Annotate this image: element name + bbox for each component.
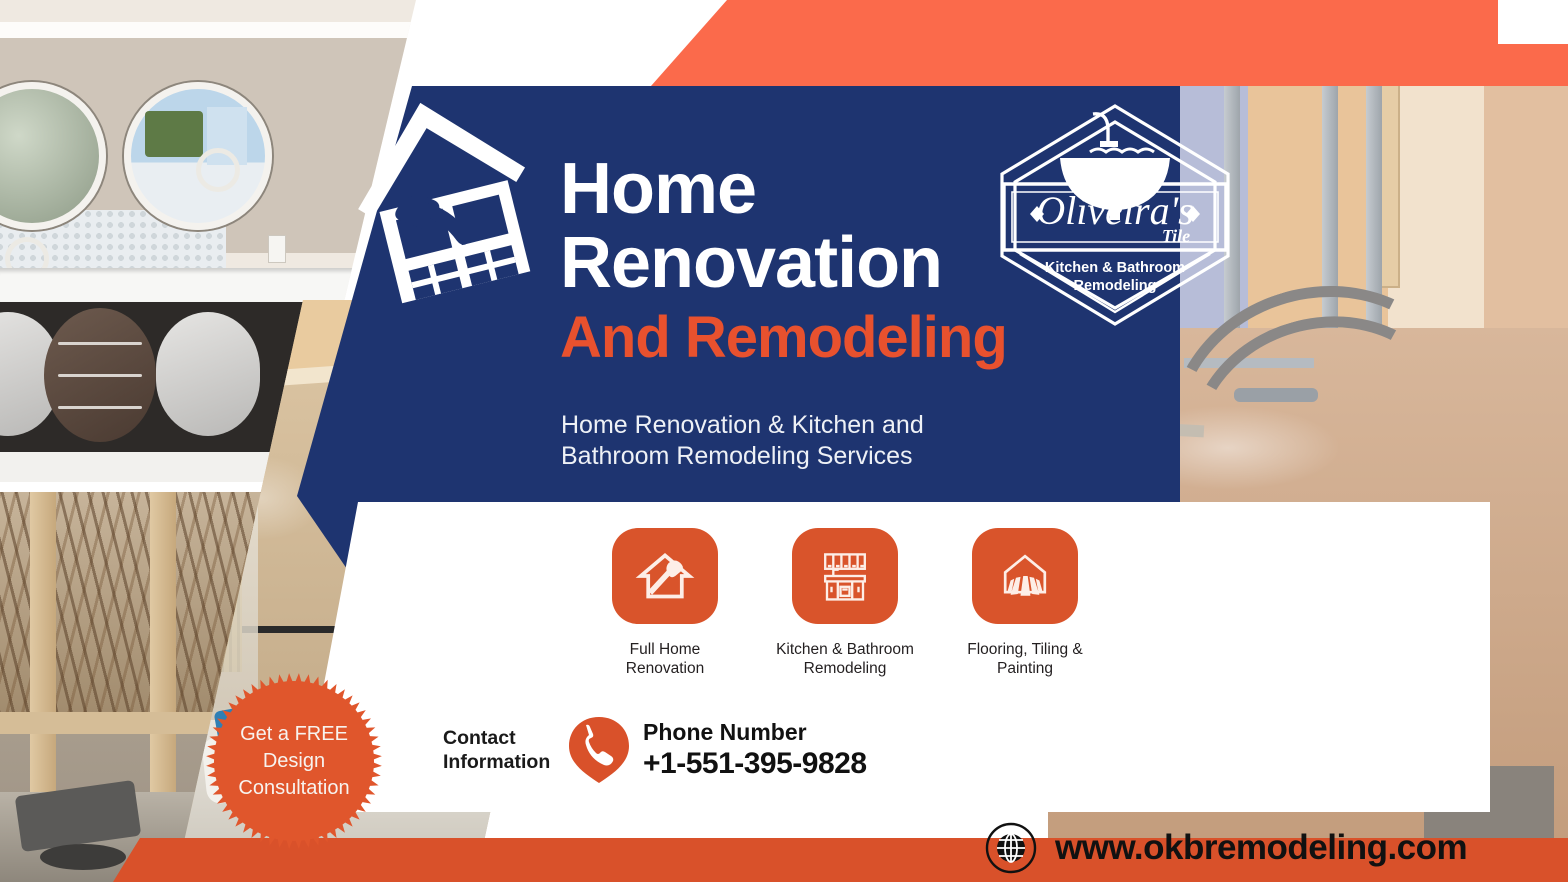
subheadline-line-1: Home Renovation & Kitchen and [561,410,1011,441]
footer-white-gap [1498,0,1568,44]
service-item-kitchen-bathroom-remodeling[interactable]: Kitchen & Bathroom Remodeling [755,528,935,678]
flooring-planks-house-icon [972,528,1078,624]
service-label-line-2: Painting [967,659,1082,678]
service-item-label: Full Home Renovation [626,640,704,678]
service-label-line-1: Full Home [626,640,704,659]
house-with-hammer-icon [352,92,537,304]
logo-tagline-line-1: Kitchen & Bathroom [1045,260,1185,276]
service-label-line-1: Kitchen & Bathroom [776,640,914,659]
website-footer[interactable]: www.okbremodeling.com [985,822,1467,874]
globe-icon [985,822,1037,874]
service-label-line-2: Renovation [626,659,704,678]
contact-information: Contact Information Phone Number +1-551-… [443,715,867,785]
service-item-flooring-tiling-painting[interactable]: Flooring, Tiling & Painting [935,528,1115,678]
free-consultation-badge-text: Get a FREE Design Consultation [238,721,349,802]
free-consultation-badge[interactable]: Get a FREE Design Consultation [205,672,383,850]
service-label-line-2: Remodeling [776,659,914,678]
seal-line-1: Get a FREE [238,721,349,748]
service-label-line-1: Flooring, Tiling & [967,640,1082,659]
logo-brand-sub-text: Tile [1162,226,1190,246]
service-item-full-home-renovation[interactable]: Full Home Renovation [575,528,755,678]
service-item-label: Kitchen & Bathroom Remodeling [776,640,914,678]
page-title: Home Renovation And Remodeling [560,152,1030,374]
company-logo: Oliveira's Tile Kitchen & Bathroom Remod… [990,96,1240,334]
contact-information-label: Contact Information [443,726,563,774]
subheadline: Home Renovation & Kitchen and Bathroom R… [561,410,1011,472]
seal-line-3: Consultation [238,775,349,802]
headline-line-1: Home [560,152,1030,226]
headline-line-3: And Remodeling [560,302,1030,374]
kitchen-cabinets-icon [792,528,898,624]
phone-number-block[interactable]: Phone Number +1-551-395-9828 [643,718,867,782]
phone-number-value: +1-551-395-9828 [643,746,867,782]
subheadline-line-2: Bathroom Remodeling Services [561,441,1011,472]
phone-pin-icon [567,715,631,785]
contact-label-line-1: Contact [443,726,563,750]
seal-line-2: Design [238,748,349,775]
website-url[interactable]: www.okbremodeling.com [1055,828,1467,868]
service-item-label: Flooring, Tiling & Painting [967,640,1082,678]
phone-number-title: Phone Number [643,718,867,746]
promotional-flyer: Home Renovation And Remodeling Home Reno… [0,0,1568,882]
headline-line-2: Renovation [560,226,1030,300]
house-hammer-renovation-icon [612,528,718,624]
logo-tagline-line-2: Remodeling [1074,278,1157,294]
contact-label-line-2: Information [443,750,563,774]
services-list: Full Home Renovation [575,528,1115,678]
